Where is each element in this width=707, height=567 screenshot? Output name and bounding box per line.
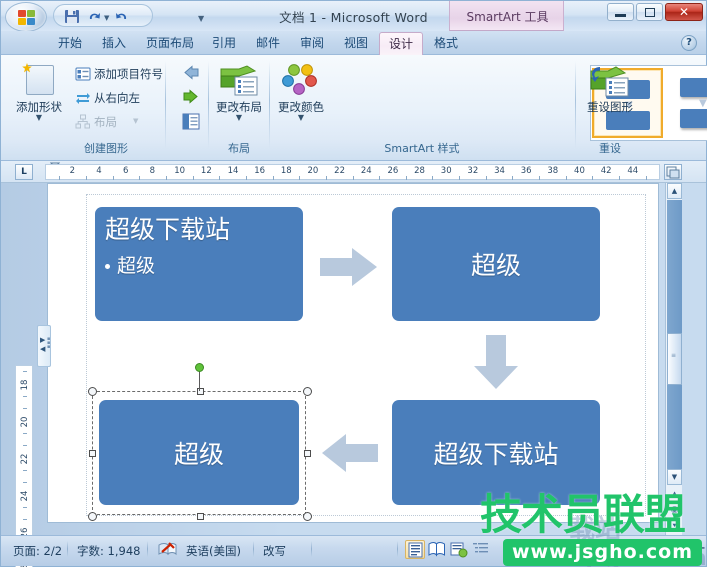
change-layout-button[interactable]: 更改布局 ▼ — [211, 65, 267, 122]
add-bullet-label: 添加项目符号 — [94, 66, 163, 82]
ruler-minor-tick — [486, 176, 487, 180]
group-caption-layouts: 布局 — [211, 140, 267, 156]
ruler-minor-tick — [219, 176, 220, 180]
close-icon: ✕ — [666, 4, 702, 20]
document-area[interactable]: 1820222426283032 超级下载站 超级 — [1, 183, 706, 535]
connector-arrow-right — [320, 247, 378, 290]
ruler-tick: 12 — [201, 166, 212, 176]
gallery-connector-icon: ▼ — [699, 98, 707, 109]
group-caption-reset: 重设 — [577, 140, 643, 156]
ruler-tick: 22 — [334, 166, 345, 176]
help-icon[interactable]: ? — [681, 35, 697, 51]
vruler-minor-tick — [23, 396, 27, 397]
full-screen-reading-view-button[interactable] — [427, 540, 447, 559]
ruler-tick: 40 — [574, 166, 585, 176]
ruler-minor-tick — [113, 176, 114, 180]
minimize-icon — [608, 4, 633, 20]
ruler-minor-tick — [619, 176, 620, 180]
ribbon: 添加形状 ▼ 添加项目符号 — [1, 55, 706, 161]
tab-page-layout[interactable]: 页面布局 — [137, 32, 203, 55]
ruler-tick: 24 — [361, 166, 372, 176]
tab-selector-button[interactable]: L — [15, 164, 33, 180]
minimize-button[interactable] — [607, 3, 634, 21]
vruler-minor-tick — [23, 470, 27, 471]
ruler-minor-tick — [592, 176, 593, 180]
right-to-left-icon — [75, 90, 91, 106]
add-shape-button[interactable]: 添加形状 ▼ — [9, 61, 69, 122]
ruler-minor-tick — [326, 176, 327, 180]
scroll-down-button[interactable]: ▼ — [667, 469, 682, 485]
ribbon-group-smartart-styles: 更改颜色 ▼ ▼ ▼ ▼ — [271, 57, 573, 157]
ruler-minor-tick — [193, 176, 194, 180]
tab-mailings[interactable]: 邮件 — [247, 32, 289, 55]
ruler-tick: 18 — [281, 166, 292, 176]
connector-arrow-left — [322, 433, 378, 476]
group-caption-smartart-styles: SmartArt 样式 — [271, 140, 573, 156]
document-page[interactable]: 超级下载站 超级 超级 — [47, 183, 659, 523]
status-word-count[interactable]: 字数: 1,948 — [77, 543, 140, 559]
ruler-minor-tick — [86, 176, 87, 180]
change-layout-dropdown-icon[interactable]: ▼ — [211, 114, 267, 122]
node-bullet-text-top-left: 超级 — [117, 253, 155, 279]
ribbon-group-create-graphic: 添加形状 ▼ 添加项目符号 — [5, 57, 207, 157]
node-bullet-top-left: 超级 — [105, 253, 155, 279]
rotate-stem — [199, 371, 200, 391]
handle-bottom-left[interactable] — [88, 512, 97, 521]
text-pane-grip-icon: ▪▪▪ — [47, 337, 50, 349]
vruler-minor-tick — [23, 371, 27, 372]
tab-format[interactable]: 格式 — [425, 32, 467, 55]
watermark-url: www.jsgho.com — [503, 539, 702, 566]
vruler-tick: 24 — [20, 487, 30, 505]
vruler-tick: 18 — [20, 376, 30, 394]
ruler-minor-tick — [166, 176, 167, 180]
ruler-tick: 10 — [174, 166, 185, 176]
node-title-top-right: 超级 — [471, 246, 521, 282]
ruler-minor-tick — [353, 176, 354, 180]
node-title-bottom-right: 超级下载站 — [433, 435, 558, 471]
tab-view[interactable]: 视图 — [335, 32, 377, 55]
reset-graphic-label: 重设图形 — [577, 101, 643, 114]
scrollbar-thumb[interactable]: ≡ — [667, 333, 682, 385]
demote-button[interactable] — [181, 88, 201, 107]
proofing-error-icon[interactable] — [157, 541, 177, 559]
ruler-minor-tick — [299, 176, 300, 180]
ruler-tick: 20 — [308, 166, 319, 176]
status-language[interactable]: 英语(美国) — [186, 543, 241, 559]
selection-frame — [92, 391, 306, 515]
ruler-minor-tick — [512, 176, 513, 180]
node-title-top-left: 超级下载站 — [105, 213, 230, 247]
change-colors-dropdown-icon[interactable]: ▼ — [273, 114, 329, 122]
ruler-tick: 26 — [387, 166, 398, 176]
ruler-tick: 4 — [96, 166, 101, 176]
ruler-minor-tick — [406, 176, 407, 180]
reset-graphic-button[interactable]: 重设图形 — [577, 65, 643, 114]
ruler-tick: 8 — [150, 166, 155, 176]
layout-label: 布局 — [94, 114, 117, 130]
vruler-minor-tick — [23, 519, 27, 520]
ruler-minor-tick — [246, 176, 247, 180]
print-layout-view-button[interactable] — [405, 540, 425, 559]
handle-bottom-center[interactable] — [197, 513, 204, 520]
maximize-button[interactable] — [636, 3, 663, 21]
right-to-left-label: 从右向左 — [94, 90, 140, 106]
connector-arrow-down — [473, 335, 519, 393]
ruler-minor-tick — [59, 176, 60, 180]
title-bar: ▼ ▼ 文档 1 - Microsoft Word SmartArt 工具 ✕ — [1, 1, 706, 31]
word-window: ▼ ▼ 文档 1 - Microsoft Word SmartArt 工具 ✕ … — [0, 0, 707, 567]
handle-top-left[interactable] — [88, 387, 97, 396]
ruler-tick: 30 — [441, 166, 452, 176]
ruler-tick: 16 — [254, 166, 265, 176]
handle-middle-left[interactable] — [89, 450, 96, 457]
vruler-minor-tick — [23, 482, 27, 483]
contextual-tab-header: SmartArt 工具 — [449, 1, 564, 31]
ruler-minor-tick — [432, 176, 433, 180]
ruler-minor-tick — [139, 176, 140, 180]
ruler-corner-button[interactable] — [664, 164, 682, 180]
tab-design[interactable]: 设计 — [379, 32, 423, 55]
smartart-node-top-right[interactable]: 超级 — [392, 207, 600, 321]
ruler-tick: 28 — [414, 166, 425, 176]
text-pane-button[interactable] — [181, 112, 201, 131]
ruler-tick: 14 — [228, 166, 239, 176]
horizontal-ruler[interactable]: L 24681012141618202224262830323436384042… — [1, 161, 706, 183]
ruler-tick: 32 — [467, 166, 478, 176]
maximize-icon — [637, 4, 662, 20]
ruler-minor-tick — [273, 176, 274, 180]
view-buttons[interactable] — [405, 540, 495, 559]
handle-top-right[interactable] — [303, 387, 312, 396]
add-bullet-icon — [75, 66, 91, 82]
vruler-tick: 20 — [20, 413, 30, 431]
change-colors-button[interactable]: 更改颜色 ▼ — [273, 63, 329, 122]
text-pane-chevron-icon: ▶◀ — [40, 336, 45, 354]
ruler-minor-tick — [539, 176, 540, 180]
ribbon-group-layouts: 更改布局 ▼ 布局 — [211, 57, 267, 157]
scroll-up-button[interactable]: ▲ — [667, 183, 682, 199]
tab-references[interactable]: 引用 — [203, 32, 245, 55]
rotate-handle[interactable] — [195, 363, 204, 372]
document-title: 文档 1 - Microsoft Word — [1, 7, 706, 26]
vruler-minor-tick — [23, 433, 27, 434]
ruler-minor-tick — [459, 176, 460, 180]
layout-hierarchy-icon — [75, 114, 91, 130]
text-pane-toggle[interactable]: ▶◀ ▪▪▪ — [37, 325, 51, 367]
tab-insert[interactable]: 插入 — [93, 32, 135, 55]
ribbon-tab-strip: 开始 插入 页面布局 引用 邮件 审阅 视图 设计 格式 ? — [1, 31, 706, 55]
ruler-tick: 44 — [627, 166, 638, 176]
smartart-graphic[interactable]: 超级下载站 超级 超级 — [86, 194, 646, 516]
outline-view-button[interactable] — [471, 540, 491, 559]
vertical-scrollbar[interactable]: ▲ ≡ ▼ ⯅ ◉ ⯆ — [665, 183, 682, 535]
ruler-tick: 42 — [601, 166, 612, 176]
promote-button[interactable] — [181, 64, 201, 83]
add-shape-dropdown-icon[interactable]: ▼ — [9, 114, 69, 122]
group-caption-create-graphic: 创建图形 — [5, 140, 207, 156]
vruler-minor-tick — [23, 507, 27, 508]
ruler-tick: 38 — [547, 166, 558, 176]
ruler-minor-tick — [566, 176, 567, 180]
ruler-minor-tick — [646, 176, 647, 180]
close-button[interactable]: ✕ — [665, 3, 703, 21]
ribbon-group-reset: 重设图形 重设 — [577, 57, 643, 157]
status-overtype-mode[interactable]: 改写 — [263, 543, 286, 559]
handle-bottom-right[interactable] — [303, 512, 312, 521]
tab-home[interactable]: 开始 — [49, 32, 91, 55]
ruler-tick: 34 — [494, 166, 505, 176]
contextual-tab-label: SmartArt 工具 — [450, 8, 565, 25]
layout-dropdown-icon: ▼ — [133, 117, 138, 125]
tab-review[interactable]: 审阅 — [291, 32, 333, 55]
ruler-tick: 6 — [123, 166, 128, 176]
bullet-dot-icon — [105, 264, 110, 269]
ruler-tick: 2 — [70, 166, 75, 176]
ruler-tick: 36 — [521, 166, 532, 176]
vruler-tick: 22 — [20, 450, 30, 468]
vruler-minor-tick — [23, 445, 27, 446]
style-item-1[interactable]: ▼ — [668, 68, 707, 138]
ruler-scale: 2468101214161820222426283032343638404244 — [45, 164, 660, 180]
handle-middle-right[interactable] — [304, 450, 311, 457]
web-layout-view-button[interactable] — [449, 540, 469, 559]
ruler-minor-tick — [379, 176, 380, 180]
vruler-minor-tick — [23, 408, 27, 409]
watermark-title: 技术员联盟 — [480, 493, 685, 537]
status-page[interactable]: 页面: 2/2 — [13, 543, 62, 559]
smartart-node-top-left[interactable]: 超级下载站 超级 — [95, 207, 303, 321]
